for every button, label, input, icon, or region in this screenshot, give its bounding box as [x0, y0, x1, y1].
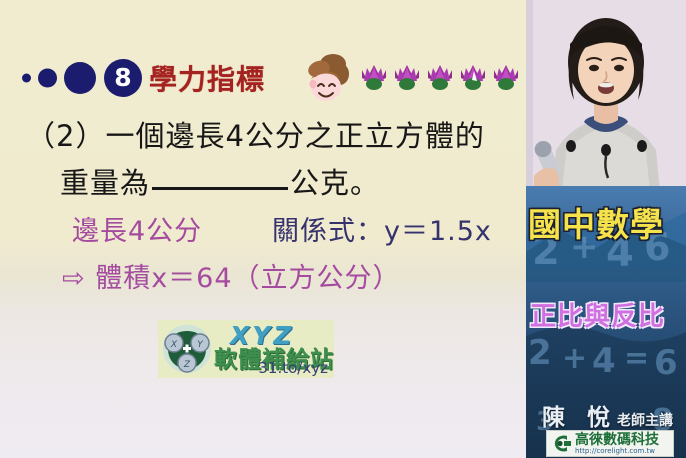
xyz-logo-url: 31.to/xyz — [258, 359, 328, 377]
svg-text:Z: Z — [183, 360, 191, 370]
instructor-role: 老師主講 — [617, 413, 673, 429]
lesson-content-pane: 8 學力指標 — [0, 0, 526, 458]
svg-text:2: 2 — [528, 333, 552, 373]
relation-formula: 關係式：y＝1.5x — [272, 209, 492, 248]
instructor-name: 陳 悅 — [542, 405, 617, 431]
work-line-2: ⇨ 體積x＝64（立方公分） — [62, 256, 401, 295]
question-line-2: 重量為公克。 — [60, 160, 380, 202]
xyz-shield-icon: X Y Z — [161, 323, 213, 375]
question-line-2-prefix: 重量為 — [60, 166, 150, 200]
company-url: http://corelight.com.tw — [575, 448, 659, 455]
xyz-watermark: X Y Z XYZ 軟體補給站 31.to/xyz — [158, 320, 334, 378]
work-line-1: 邊長4公分 — [72, 209, 202, 248]
presenter-video[interactable] — [526, 0, 686, 192]
flower-row — [360, 61, 520, 93]
flower-icon — [426, 61, 454, 93]
svg-text:X: X — [170, 340, 178, 350]
indicator-header: 8 學力指標 — [18, 52, 518, 104]
course-subtitle: 正比與反比 — [530, 296, 665, 333]
question-line-1: （2）一個邊長4公分之正立方體的 — [26, 113, 485, 155]
company-text: 高徠數碼科技 http://corelight.com.tw — [575, 433, 659, 455]
svg-text:4: 4 — [592, 341, 616, 381]
presenter-with-microphone — [526, 0, 686, 192]
course-title: 國中數學 — [528, 198, 664, 246]
corelight-logo-icon — [549, 433, 573, 454]
flower-icon — [393, 61, 421, 93]
question-line-2-suffix: 公克。 — [290, 166, 380, 200]
instructor-line: 陳 悅老師主講 — [542, 398, 673, 432]
video-pane[interactable]: 2 + 4 6 2 + 4 = 6 8 3 國中數學 正比與反比 陳 悅老師主講 — [526, 0, 686, 458]
bullet-dot-medium — [38, 69, 57, 88]
indicator-label: 學力指標 — [149, 58, 265, 98]
girl-face-icon — [300, 50, 356, 106]
flower-icon — [459, 61, 487, 93]
answer-blank[interactable] — [152, 187, 288, 190]
svg-text:+: + — [562, 341, 587, 376]
bullet-dot-large — [64, 62, 96, 94]
company-badge: 高徠數碼科技 http://corelight.com.tw — [546, 430, 674, 457]
flower-icon — [492, 61, 520, 93]
flower-icon — [360, 61, 388, 93]
svg-text:6: 6 — [654, 343, 678, 383]
course-banner: 2 + 4 6 2 + 4 = 6 8 3 國中數學 正比與反比 陳 悅老師主講 — [526, 186, 686, 458]
bullet-dot-small — [22, 74, 31, 83]
lesson-screenshot: 8 學力指標 — [0, 0, 686, 458]
company-name: 高徠數碼科技 — [575, 433, 659, 447]
svg-text:=: = — [624, 341, 649, 376]
section-number-badge: 8 — [104, 59, 142, 97]
